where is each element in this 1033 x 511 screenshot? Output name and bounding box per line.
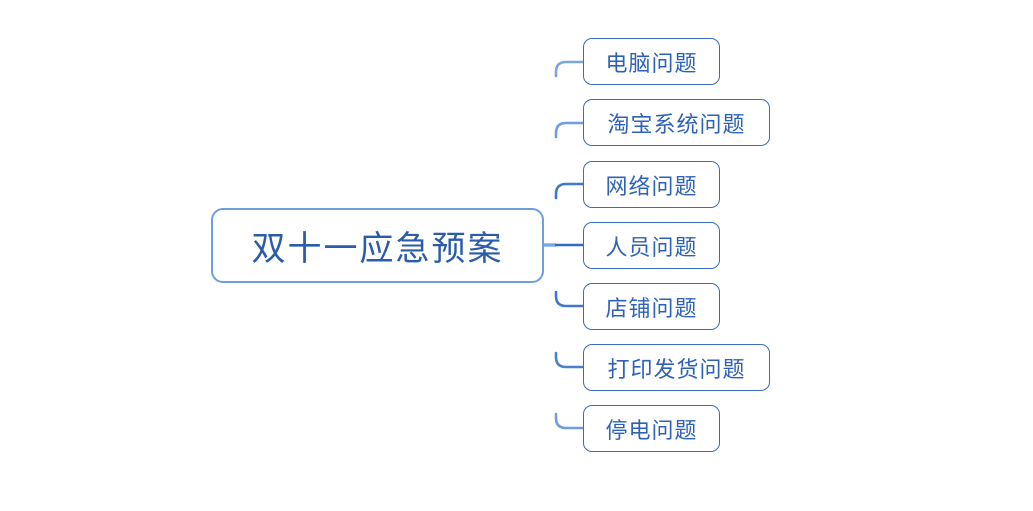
connector-branch-1 [556, 62, 583, 76]
child-node-3-label: 网络问题 [605, 169, 697, 201]
child-node-1-label: 电脑问题 [605, 46, 697, 78]
child-node-6-label: 打印发货问题 [607, 352, 745, 384]
connector-branch-7 [556, 414, 583, 428]
child-node-2[interactable]: 淘宝系统问题 [583, 99, 770, 146]
root-node-label: 双十一应急预案 [252, 221, 504, 270]
child-node-5-label: 店铺问题 [605, 291, 697, 323]
connector-branch-2 [556, 123, 583, 137]
connector-branch-6 [556, 353, 583, 367]
root-node[interactable]: 双十一应急预案 [211, 208, 544, 283]
child-node-7-label: 停电问题 [605, 413, 697, 445]
mindmap-canvas: 双十一应急预案 电脑问题 淘宝系统问题 网络问题 人员问题 店铺问题 打印发货问… [0, 0, 1033, 511]
connector-branch-5 [556, 292, 583, 306]
child-node-4-label: 人员问题 [605, 230, 697, 262]
connector-branch-3 [556, 184, 583, 198]
child-node-1[interactable]: 电脑问题 [583, 38, 720, 85]
child-node-5[interactable]: 店铺问题 [583, 283, 720, 330]
child-node-2-label: 淘宝系统问题 [607, 107, 745, 139]
child-node-4[interactable]: 人员问题 [583, 222, 720, 269]
child-node-3[interactable]: 网络问题 [583, 161, 720, 208]
child-node-7[interactable]: 停电问题 [583, 405, 720, 452]
child-node-6[interactable]: 打印发货问题 [583, 344, 770, 391]
